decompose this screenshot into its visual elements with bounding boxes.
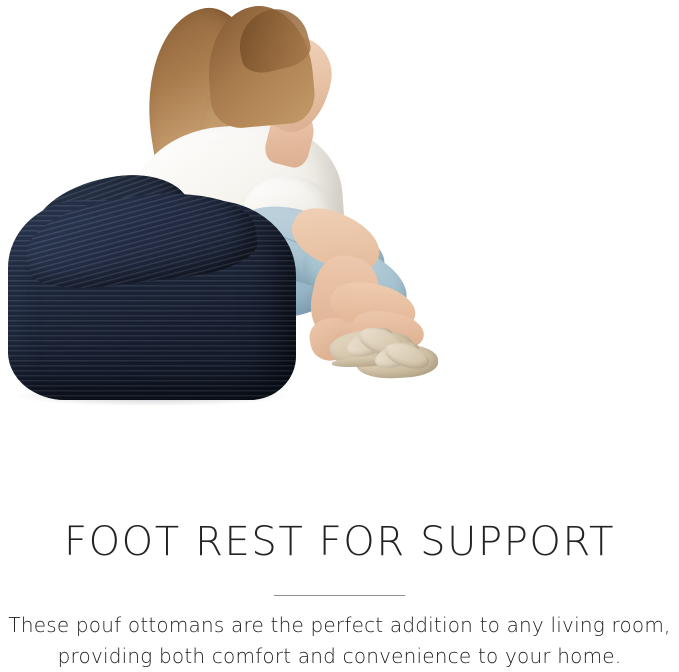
- description-line-1: These pouf ottomans are the perfect addi…: [0, 610, 679, 641]
- page-title: FOOT REST FOR SUPPORT: [0, 519, 679, 565]
- infographic-canvas: 01 Comfortable 02 Breathable 03 Support …: [0, 0, 679, 669]
- title-divider: [274, 595, 405, 596]
- product-photo: [0, 0, 440, 450]
- description-line-2: providing both comfort and convenience t…: [0, 641, 679, 672]
- feature-list: 01 Comfortable 02 Breathable 03 Support …: [400, 60, 679, 450]
- description-text: These pouf ottomans are the perfect addi…: [0, 610, 679, 672]
